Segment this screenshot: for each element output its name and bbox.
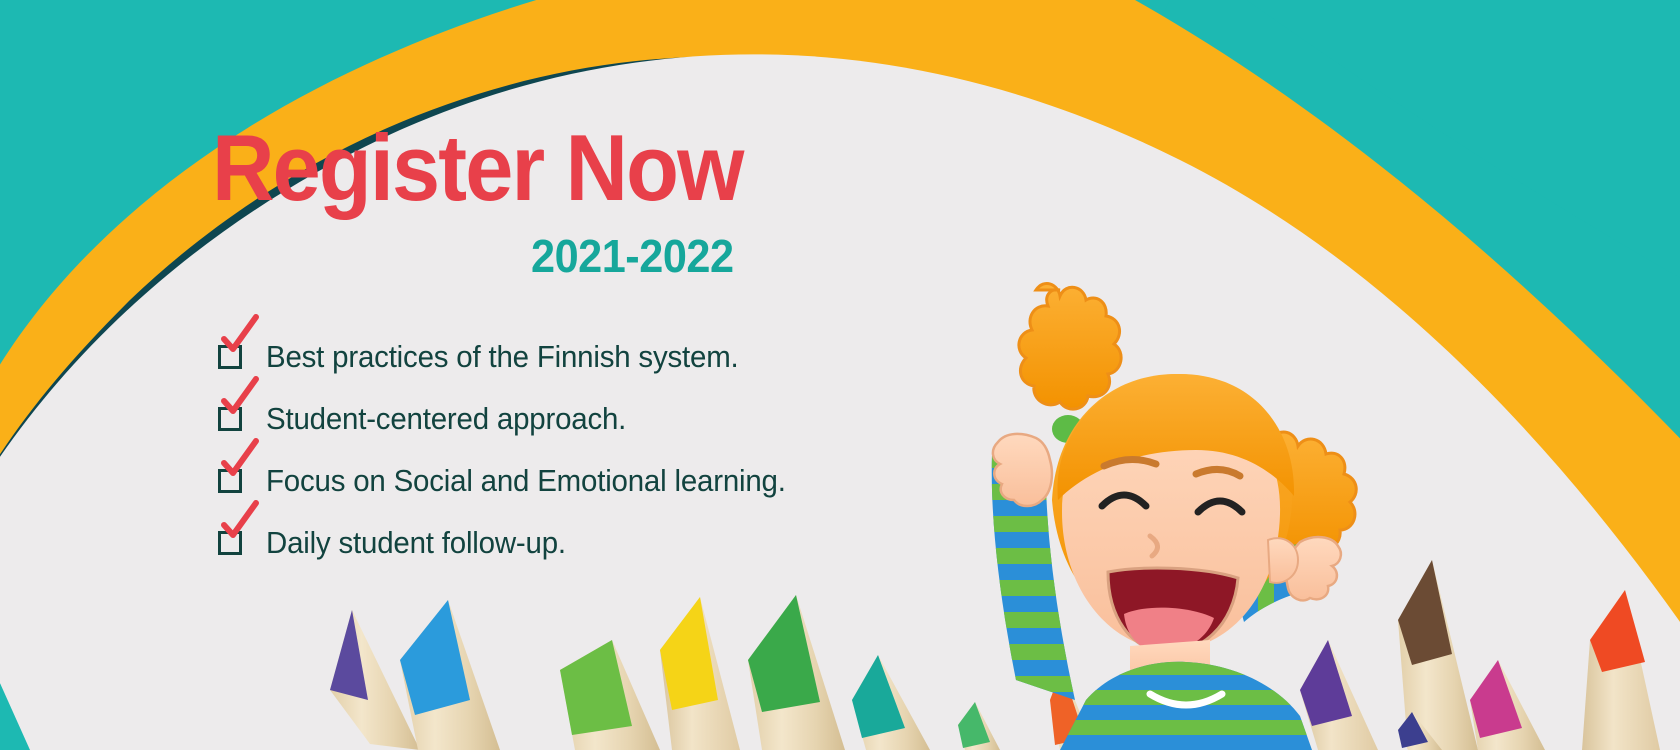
list-item-label: Focus on Social and Emotional learning. — [266, 461, 786, 501]
check-mark-icon — [216, 501, 260, 545]
page-title: Register Now — [212, 121, 743, 215]
list-item-label: Daily student follow-up. — [266, 523, 566, 563]
check-mark-icon — [216, 439, 260, 483]
list-item-label: Student-centered approach. — [266, 399, 626, 439]
content-area: Register Now 2021-2022 Best practices of… — [0, 0, 1000, 750]
list-item-label: Best practices of the Finnish system. — [266, 337, 739, 377]
check-mark-icon — [216, 377, 260, 421]
check-mark-icon — [216, 315, 260, 359]
register-now-banner: Register Now 2021-2022 Best practices of… — [0, 0, 1680, 750]
academic-year-subtitle: 2021-2022 — [531, 233, 734, 279]
